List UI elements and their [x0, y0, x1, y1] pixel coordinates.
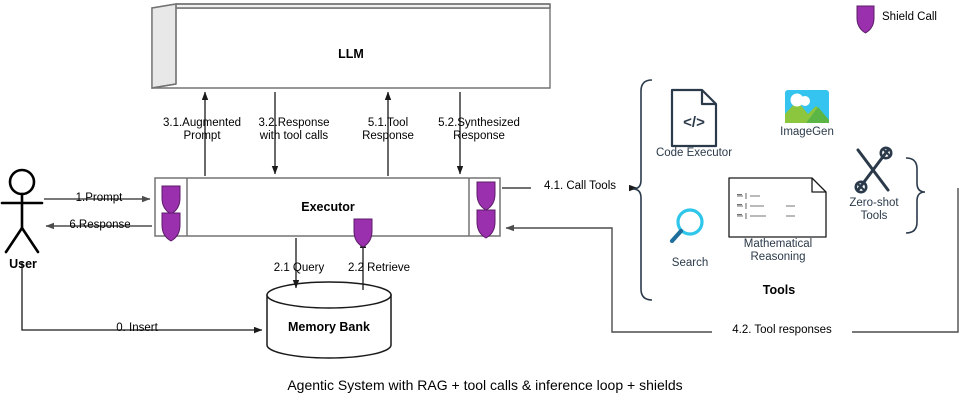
edge-label-call-tools: 4.1. Call Tools [531, 180, 629, 193]
shield-layer [0, 0, 970, 411]
shield-icon-response-out [162, 213, 180, 241]
diagram-caption: Agentic System with RAG + tool calls & i… [185, 377, 785, 393]
tool-label-search: Search [660, 257, 720, 270]
shield-icon-tool-response-in [477, 210, 495, 238]
tool-label-imagegen: ImageGen [770, 126, 844, 139]
diagram-canvas: </> [0, 0, 970, 411]
llm-label: LLM [301, 47, 401, 61]
edge-label-retrieve: 2.2 Retrieve [335, 262, 423, 275]
legend-shield-label: Shield Call [882, 11, 968, 24]
shield-icon-prompt-in [162, 186, 180, 214]
shield-icon-memory-retrieve [354, 219, 372, 247]
edge-label-tool-response: 5.1.Tool Response [340, 117, 436, 143]
edge-label-response: 6.Response [52, 219, 148, 232]
user-label: User [0, 257, 46, 271]
tool-label-mathematical-reasoning: Mathematical Reasoning [733, 238, 823, 264]
memory-bank-label: Memory Bank [279, 320, 379, 334]
edge-label-query: 2.1 Query [262, 262, 336, 275]
executor-label: Executor [278, 200, 378, 214]
edge-label-prompt: 1.Prompt [55, 192, 143, 205]
tool-label-zero-shot-tools: Zero-shot Tools [838, 197, 910, 223]
edge-label-insert: 0. Insert [62, 322, 212, 335]
tools-group-label: Tools [739, 283, 819, 297]
edge-label-response-tool-calls: 3.2.Response with tool calls [234, 117, 354, 143]
edge-label-tool-responses: 4.2. Tool responses [712, 324, 852, 337]
tool-label-code-executor: Code Executor [646, 147, 742, 160]
edge-label-synthesized-response: 5.2.Synthesized Response [424, 117, 534, 143]
shield-icon-legend [857, 6, 874, 33]
shield-icon-tool-call-out [477, 182, 495, 210]
